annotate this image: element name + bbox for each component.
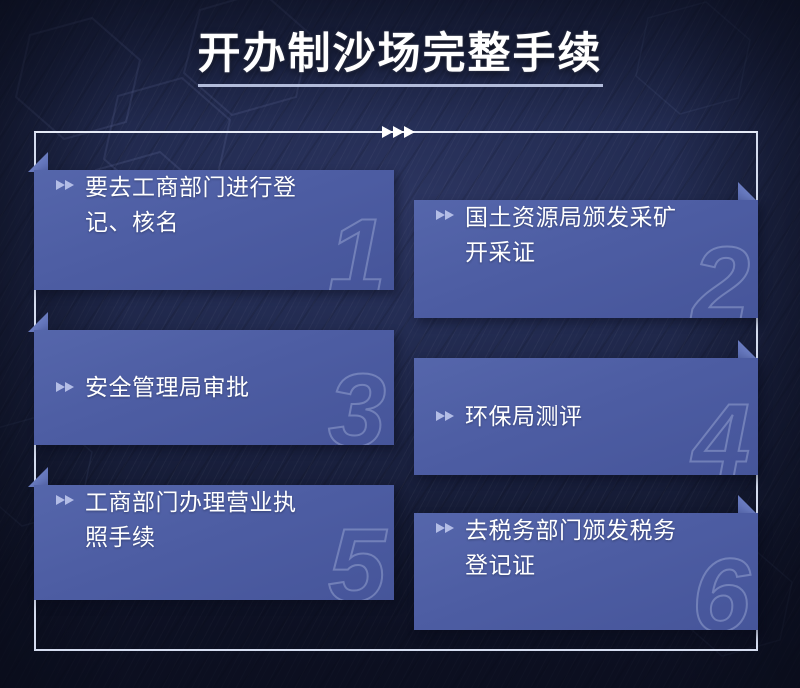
infographic-canvas: 开办制沙场完整手续 1 要去工商部门进行登记、核名 2 国土资源局颁发采矿开采证 bbox=[0, 0, 800, 688]
step-card-5[interactable]: 5 工商部门办理营业执照手续 bbox=[34, 485, 394, 600]
step-text-5: 工商部门办理营业执照手续 bbox=[85, 485, 297, 555]
step-card-6[interactable]: 6 去税务部门颁发税务登记证 bbox=[414, 513, 758, 630]
step-text-3: 安全管理局审批 bbox=[85, 370, 250, 405]
step-card-1[interactable]: 1 要去工商部门进行登记、核名 bbox=[34, 170, 394, 290]
frame-arrow-icon bbox=[382, 124, 426, 140]
step-text-2: 国土资源局颁发采矿开采证 bbox=[465, 200, 677, 270]
step-text-1: 要去工商部门进行登记、核名 bbox=[85, 170, 297, 240]
step-card-2[interactable]: 2 国土资源局颁发采矿开采证 bbox=[414, 200, 758, 318]
step-text-4: 环保局测评 bbox=[465, 399, 583, 434]
step-card-3[interactable]: 3 安全管理局审批 bbox=[34, 330, 394, 445]
bullet-double-chevron-icon bbox=[56, 494, 76, 507]
bullet-double-chevron-icon bbox=[56, 381, 76, 394]
title-container: 开办制沙场完整手续 bbox=[0, 30, 800, 87]
step-card-4[interactable]: 4 环保局测评 bbox=[414, 358, 758, 475]
bullet-double-chevron-icon bbox=[436, 522, 456, 535]
bullet-double-chevron-icon bbox=[56, 179, 76, 192]
bullet-double-chevron-icon bbox=[436, 410, 456, 423]
bullet-double-chevron-icon bbox=[436, 209, 456, 222]
step-text-6: 去税务部门颁发税务登记证 bbox=[465, 513, 677, 583]
page-title: 开办制沙场完整手续 bbox=[198, 30, 603, 87]
